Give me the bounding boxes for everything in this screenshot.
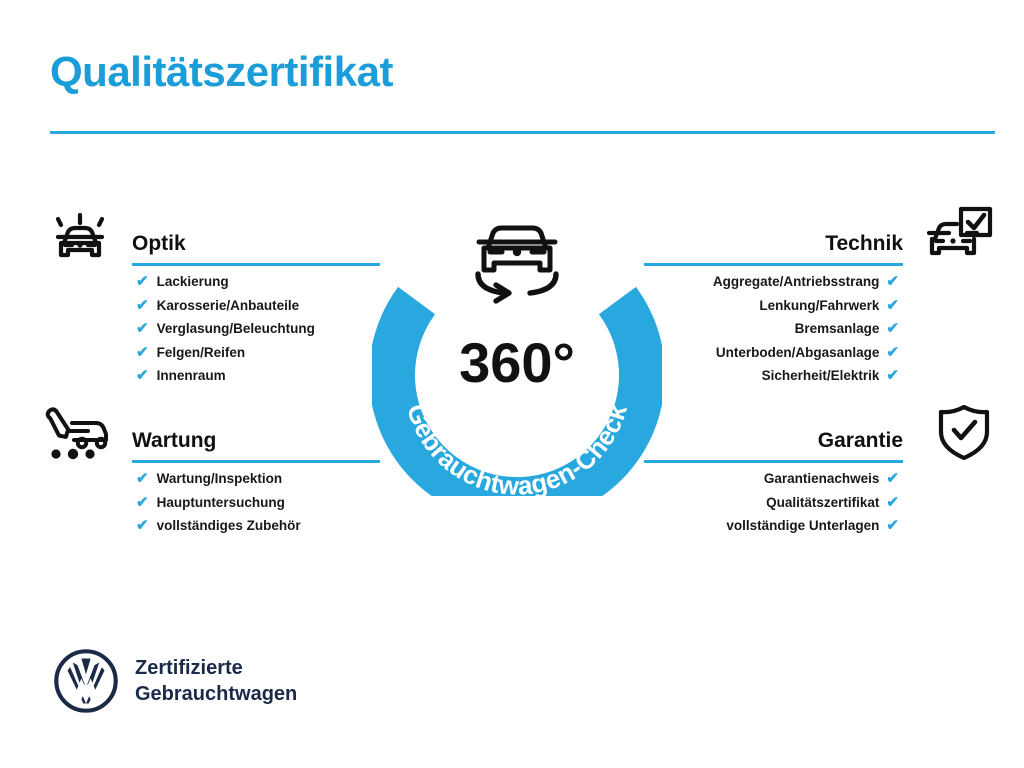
check-icon: ✔ xyxy=(136,321,149,336)
check-icon: ✔ xyxy=(136,471,149,486)
check-icon: ✔ xyxy=(136,495,149,510)
car-rotation-icon xyxy=(478,228,556,301)
list-item: Unterboden/Abgasanlage✔ xyxy=(640,341,899,365)
list-item: ✔Karosserie/Anbauteile xyxy=(136,294,384,318)
section-divider xyxy=(644,263,903,266)
service-pen-car-icon xyxy=(44,401,128,463)
optik-checklist: ✔Lackierung ✔Karosserie/Anbauteile ✔Verg… xyxy=(44,270,384,388)
list-item: ✔Wartung/Inspektion xyxy=(136,467,384,491)
check-icon: ✔ xyxy=(886,274,899,289)
check-icon: ✔ xyxy=(886,321,899,336)
car-checkbox-icon xyxy=(911,204,995,266)
vw-logo xyxy=(53,648,119,714)
list-item-label: vollständige Unterlagen xyxy=(726,514,879,538)
technik-checklist: Aggregate/Antriebsstrang✔ Lenkung/Fahrwe… xyxy=(640,270,995,388)
list-item-label: Lenkung/Fahrwerk xyxy=(759,294,879,318)
list-item-label: Sicherheit/Elektrik xyxy=(762,364,880,388)
list-item-label: Bremsanlage xyxy=(795,317,880,341)
list-item-label: Wartung/Inspektion xyxy=(157,467,283,491)
list-item: ✔Felgen/Reifen xyxy=(136,341,384,365)
list-item-label: Verglasung/Beleuchtung xyxy=(157,317,315,341)
list-item: ✔vollständiges Zubehör xyxy=(136,514,384,538)
wartung-checklist: ✔Wartung/Inspektion ✔Hauptuntersuchung ✔… xyxy=(44,467,384,538)
section-header: Wartung xyxy=(44,401,384,467)
list-item-label: Aggregate/Antriebsstrang xyxy=(713,270,880,294)
check-icon: ✔ xyxy=(136,345,149,360)
check-icon: ✔ xyxy=(136,298,149,313)
list-item: ✔Innenraum xyxy=(136,364,384,388)
list-item-label: Hauptuntersuchung xyxy=(157,491,285,515)
check-icon: ✔ xyxy=(136,368,149,383)
title-divider xyxy=(50,131,995,134)
page-title: Qualitätszertifikat xyxy=(50,48,393,96)
list-item: Garantienachweis✔ xyxy=(640,467,899,491)
list-item: ✔Hauptuntersuchung xyxy=(136,491,384,515)
section-header: Garantie xyxy=(640,401,995,467)
check-icon: ✔ xyxy=(136,518,149,533)
360-check-badge: Gebrauchtwagen-Check 360° xyxy=(372,196,662,496)
list-item-label: Felgen/Reifen xyxy=(157,341,246,365)
check-icon: ✔ xyxy=(886,298,899,313)
check-icon: ✔ xyxy=(886,368,899,383)
section-optik: Optik ✔Lackierung ✔Karosserie/Anbauteile… xyxy=(44,204,384,388)
list-item-label: Lackierung xyxy=(157,270,229,294)
footer-brand-text: Zertifizierte Gebrauchtwagen xyxy=(135,655,297,707)
badge-center-label: 360° xyxy=(459,331,575,394)
section-title-wartung: Wartung xyxy=(132,429,216,453)
list-item: Aggregate/Antriebsstrang✔ xyxy=(640,270,899,294)
section-garantie: Garantie Garantienachweis✔ Qualitätszert… xyxy=(640,401,995,538)
list-item-label: vollständiges Zubehör xyxy=(157,514,301,538)
car-shine-icon xyxy=(44,204,128,266)
list-item: Lenkung/Fahrwerk✔ xyxy=(640,294,899,318)
check-icon: ✔ xyxy=(886,345,899,360)
list-item: ✔Verglasung/Beleuchtung xyxy=(136,317,384,341)
footer-line-2: Gebrauchtwagen xyxy=(135,681,297,707)
footer-line-1: Zertifizierte xyxy=(135,655,297,681)
section-divider xyxy=(644,460,903,463)
list-item: ✔Lackierung xyxy=(136,270,384,294)
badge-ring xyxy=(392,301,642,496)
section-technik: Technik Aggregate/Antriebsstrang✔ Lenkun… xyxy=(640,204,995,388)
list-item-label: Garantienachweis xyxy=(764,467,880,491)
garantie-checklist: Garantienachweis✔ Qualitätszertifikat✔ v… xyxy=(640,467,995,538)
section-title-optik: Optik xyxy=(132,232,186,256)
list-item-label: Karosserie/Anbauteile xyxy=(157,294,300,318)
section-title-technik: Technik xyxy=(825,232,903,256)
section-title-garantie: Garantie xyxy=(818,429,903,453)
list-item: Bremsanlage✔ xyxy=(640,317,899,341)
section-header: Technik xyxy=(640,204,995,270)
list-item: Qualitätszertifikat✔ xyxy=(640,491,899,515)
footer-logo: Zertifizierte Gebrauchtwagen xyxy=(53,648,297,714)
check-icon: ✔ xyxy=(136,274,149,289)
shield-check-icon xyxy=(911,401,995,463)
list-item: vollständige Unterlagen✔ xyxy=(640,514,899,538)
section-divider xyxy=(132,460,380,463)
section-divider xyxy=(132,263,380,266)
check-icon: ✔ xyxy=(886,495,899,510)
check-icon: ✔ xyxy=(886,518,899,533)
list-item-label: Innenraum xyxy=(157,364,226,388)
section-wartung: Wartung ✔Wartung/Inspektion ✔Hauptunters… xyxy=(44,401,384,538)
section-header: Optik xyxy=(44,204,384,270)
list-item: Sicherheit/Elektrik✔ xyxy=(640,364,899,388)
list-item-label: Unterboden/Abgasanlage xyxy=(716,341,880,365)
list-item-label: Qualitätszertifikat xyxy=(766,491,879,515)
check-icon: ✔ xyxy=(886,471,899,486)
